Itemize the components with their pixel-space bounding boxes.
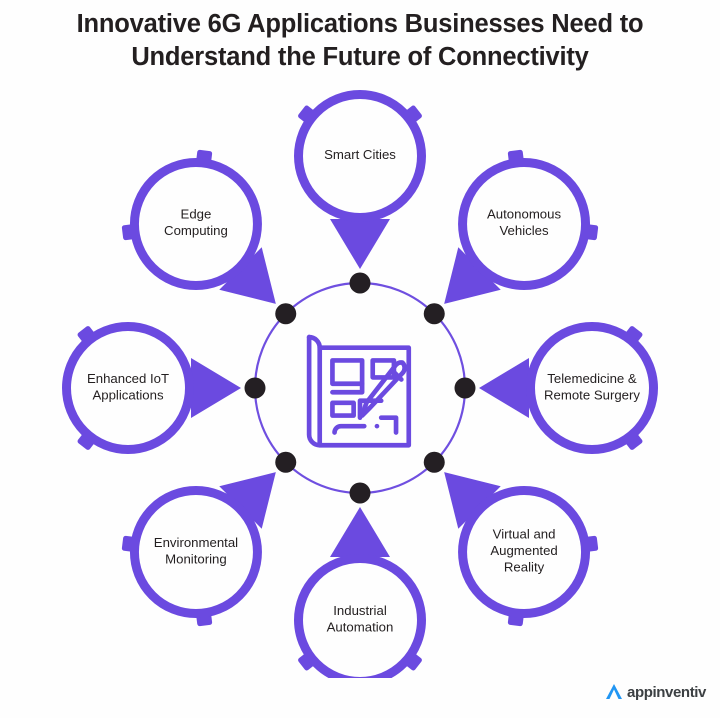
- node-label-smart-cities: Smart Cities: [324, 147, 396, 162]
- arrow-enhanced-iot: [191, 358, 241, 418]
- hub-node-dot: [424, 452, 445, 473]
- blueprint-pencil-icon: [309, 337, 409, 445]
- hub-node-dot: [455, 378, 476, 399]
- node-label-enhanced-iot: Enhanced IoTApplications: [87, 371, 169, 403]
- page-title-line-2: Understand the Future of Connectivity: [0, 41, 720, 74]
- node-autonomous-vehicles[interactable]: AutonomousVehicles: [463, 162, 586, 285]
- node-enhanced-iot[interactable]: Enhanced IoTApplications: [67, 327, 190, 450]
- appinventiv-mark-icon: [604, 682, 624, 702]
- node-environmental-monitoring[interactable]: EnvironmentalMonitoring: [134, 491, 257, 614]
- infographic-page: Innovative 6G Applications Businesses Ne…: [0, 0, 720, 718]
- node-vr-ar[interactable]: Virtual andAugmentedReality: [463, 491, 586, 614]
- hub-node-dot: [350, 483, 371, 504]
- arrow-telemedicine: [479, 358, 529, 418]
- page-title: Innovative 6G Applications Businesses Ne…: [0, 8, 720, 73]
- hub-node-dot: [245, 378, 266, 399]
- arrow-head-icon: [191, 358, 241, 418]
- node-label-telemedicine: Telemedicine &Remote Surgery: [544, 371, 640, 403]
- hub-node-dot: [275, 303, 296, 324]
- hub-node-dot: [424, 303, 445, 324]
- arrow-head-icon: [330, 219, 390, 269]
- node-telemedicine[interactable]: Telemedicine &Remote Surgery: [531, 327, 654, 450]
- arrow-head-icon: [330, 507, 390, 557]
- node-industrial-automation[interactable]: IndustrialAutomation: [299, 559, 422, 679]
- node-label-environmental-monitoring: EnvironmentalMonitoring: [154, 535, 238, 567]
- center-hub: [245, 273, 476, 504]
- page-title-line-1: Innovative 6G Applications Businesses Ne…: [0, 8, 720, 41]
- arrow-smart-cities: [330, 219, 390, 269]
- arrow-industrial-automation: [330, 507, 390, 557]
- appinventiv-logo: appinventiv: [604, 682, 706, 702]
- arrow-head-icon: [479, 358, 529, 418]
- node-smart-cities[interactable]: Smart Cities: [299, 95, 422, 218]
- appinventiv-logo-text: appinventiv: [627, 684, 706, 701]
- hub-node-dot: [275, 452, 296, 473]
- node-label-industrial-automation: IndustrialAutomation: [327, 603, 394, 635]
- circular-diagram: Smart CitiesAutonomousVehiclesTelemedici…: [0, 78, 720, 678]
- hub-node-dot: [350, 273, 371, 294]
- node-edge-computing[interactable]: EdgeComputing: [134, 162, 257, 285]
